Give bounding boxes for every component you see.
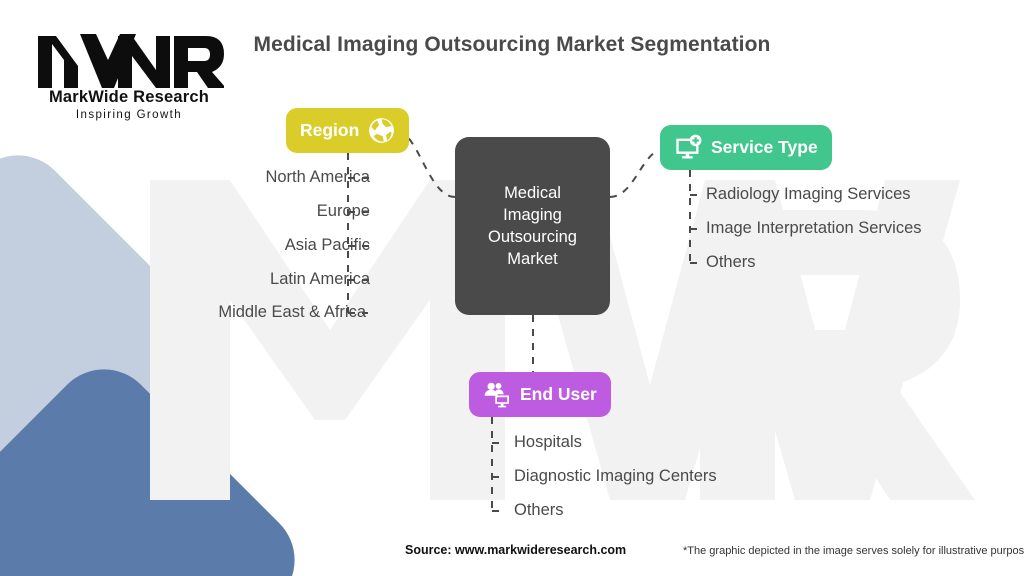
branch-badge-region-label: Region	[300, 120, 359, 141]
leaf-end-user-0: Hospitals	[514, 433, 582, 452]
source-text: Source: www.markwideresearch.com	[405, 543, 626, 557]
leaf-region-4: Middle East & Africa	[70, 303, 366, 322]
branch-badge-service-type-label: Service Type	[711, 137, 818, 158]
brand-tagline: Inspiring Growth	[34, 109, 224, 121]
leaf-end-user-2: Others	[514, 501, 564, 520]
branch-badge-region[interactable]: Region	[286, 108, 409, 153]
connector-center-service	[610, 150, 658, 197]
globe-icon	[368, 117, 395, 144]
page-title: Medical Imaging Outsourcing Market Segme…	[0, 33, 1024, 57]
monitor-plus-icon	[674, 134, 702, 162]
center-node-label: Medical Imaging Outsourcing Market	[488, 182, 577, 270]
disclaimer-text: *The graphic depicted in the image serve…	[683, 545, 1024, 557]
brand-name: MarkWide Research	[34, 88, 224, 107]
leaf-region-3: Latin America	[70, 270, 370, 289]
leaf-service-type-2: Others	[706, 253, 756, 272]
branch-badge-service-type[interactable]: Service Type	[660, 125, 832, 170]
leaf-region-0: North America	[70, 168, 370, 187]
leaf-service-type-1: Image Interpretation Services	[706, 219, 922, 238]
center-node: Medical Imaging Outsourcing Market	[455, 137, 610, 315]
branch-badge-end-user-label: End User	[520, 384, 597, 405]
infographic-canvas: MarkWide Research Inspiring Growth Medic…	[0, 0, 1024, 576]
branch-badge-end-user[interactable]: End User	[469, 372, 611, 417]
users-monitor-icon	[483, 381, 511, 409]
leaf-end-user-1: Diagnostic Imaging Centers	[514, 467, 717, 486]
leaf-service-type-0: Radiology Imaging Services	[706, 185, 911, 204]
leaf-region-1: Europe	[70, 202, 370, 221]
leaf-region-2: Asia Pacific	[70, 236, 370, 255]
